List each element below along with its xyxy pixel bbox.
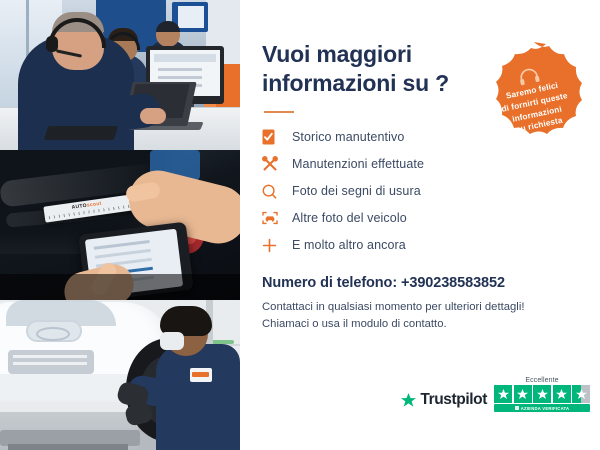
call-center-agents-photo	[0, 0, 240, 150]
trustpilot-rating-block: Eccellente	[494, 377, 590, 412]
trustpilot-rating-label: Eccellente	[525, 377, 558, 384]
keyboard-decor	[44, 126, 119, 140]
trustpilot-widget[interactable]: Trustpilot Eccellente	[400, 377, 590, 412]
ruler-logo-text: AUTOscout	[71, 201, 102, 211]
feature-label: Storico manutentivo	[292, 130, 404, 144]
contact-line-1: Contattaci in qualsiasi momento per ulte…	[262, 299, 578, 317]
headlight-decor	[26, 320, 82, 342]
star-half-5	[572, 385, 590, 403]
feature-label: Foto dei segni di usura	[292, 184, 421, 198]
front-grille-decor	[8, 350, 94, 374]
trustpilot-verified-badge: AZIENDA VERIFICATA	[494, 404, 590, 412]
search-circle-icon	[262, 182, 284, 200]
star-filled-1	[494, 385, 512, 403]
vehicle-inspection-tablet-photo: AUTOscout	[0, 150, 240, 300]
phone-number[interactable]: +390238583852	[401, 275, 505, 291]
mechanic-tire-check-photo	[0, 300, 240, 450]
content-panel: Vuoi maggiori informazioni su ? Storico …	[240, 0, 600, 450]
mechanic-face-mask	[160, 332, 184, 350]
verified-check-icon	[515, 406, 519, 410]
tools-cross-icon	[262, 155, 284, 173]
badge-text-block: Saremo felici di fornirti queste informa…	[498, 78, 574, 139]
phone-label: Numero di telefono:	[262, 275, 397, 291]
photo-shadow-decor	[0, 274, 240, 300]
feature-label: Manutenzioni effettuate	[292, 157, 424, 171]
feature-label: Altre foto del veicolo	[292, 211, 407, 225]
trustpilot-verified-text: AZIENDA VERIFICATA	[521, 406, 570, 411]
car-lift-base-decor	[8, 444, 128, 450]
promo-card: AUTOscout	[0, 0, 600, 450]
mechanic-uniform-badge	[190, 368, 212, 382]
feature-item-foto-segni-usura[interactable]: Foto dei segni di usura	[262, 179, 578, 204]
request-info-badge: Saremo felici di fornirti queste informa…	[474, 40, 594, 160]
star-filled-2	[514, 385, 532, 403]
clipboard-check-icon	[262, 128, 284, 146]
badge-content: Saremo felici di fornirti queste informa…	[463, 29, 600, 171]
agent-1-hand	[140, 108, 166, 124]
feature-item-molto-altro[interactable]: E molto altro ancora	[262, 233, 578, 258]
plus-icon	[262, 236, 284, 254]
star-filled-4	[553, 385, 571, 403]
star-filled-3	[533, 385, 551, 403]
feature-item-altre-foto-veicolo[interactable]: Altre foto del veicolo	[262, 206, 578, 231]
contact-instructions: Contattaci in qualsiasi momento per ulte…	[262, 299, 578, 334]
trustpilot-brand: Trustpilot	[400, 391, 487, 412]
trustpilot-stars	[494, 385, 590, 403]
trustpilot-brand-name: Trustpilot	[420, 391, 487, 409]
page-title-line-2: informazioni su ?	[262, 70, 449, 96]
photo-column: AUTOscout	[0, 0, 240, 450]
phone-number-line: Numero di telefono: +390238583852	[262, 275, 578, 291]
trustpilot-star-icon	[400, 392, 417, 409]
feature-label: E molto altro ancora	[292, 238, 406, 252]
car-photo-frame-icon	[262, 209, 284, 227]
contact-line-2: Chiamaci o usa il modulo di contatto.	[262, 316, 578, 334]
wall-poster-decor	[178, 6, 204, 28]
title-divider	[264, 111, 294, 113]
page-title-line-1: Vuoi maggiori	[262, 41, 412, 67]
